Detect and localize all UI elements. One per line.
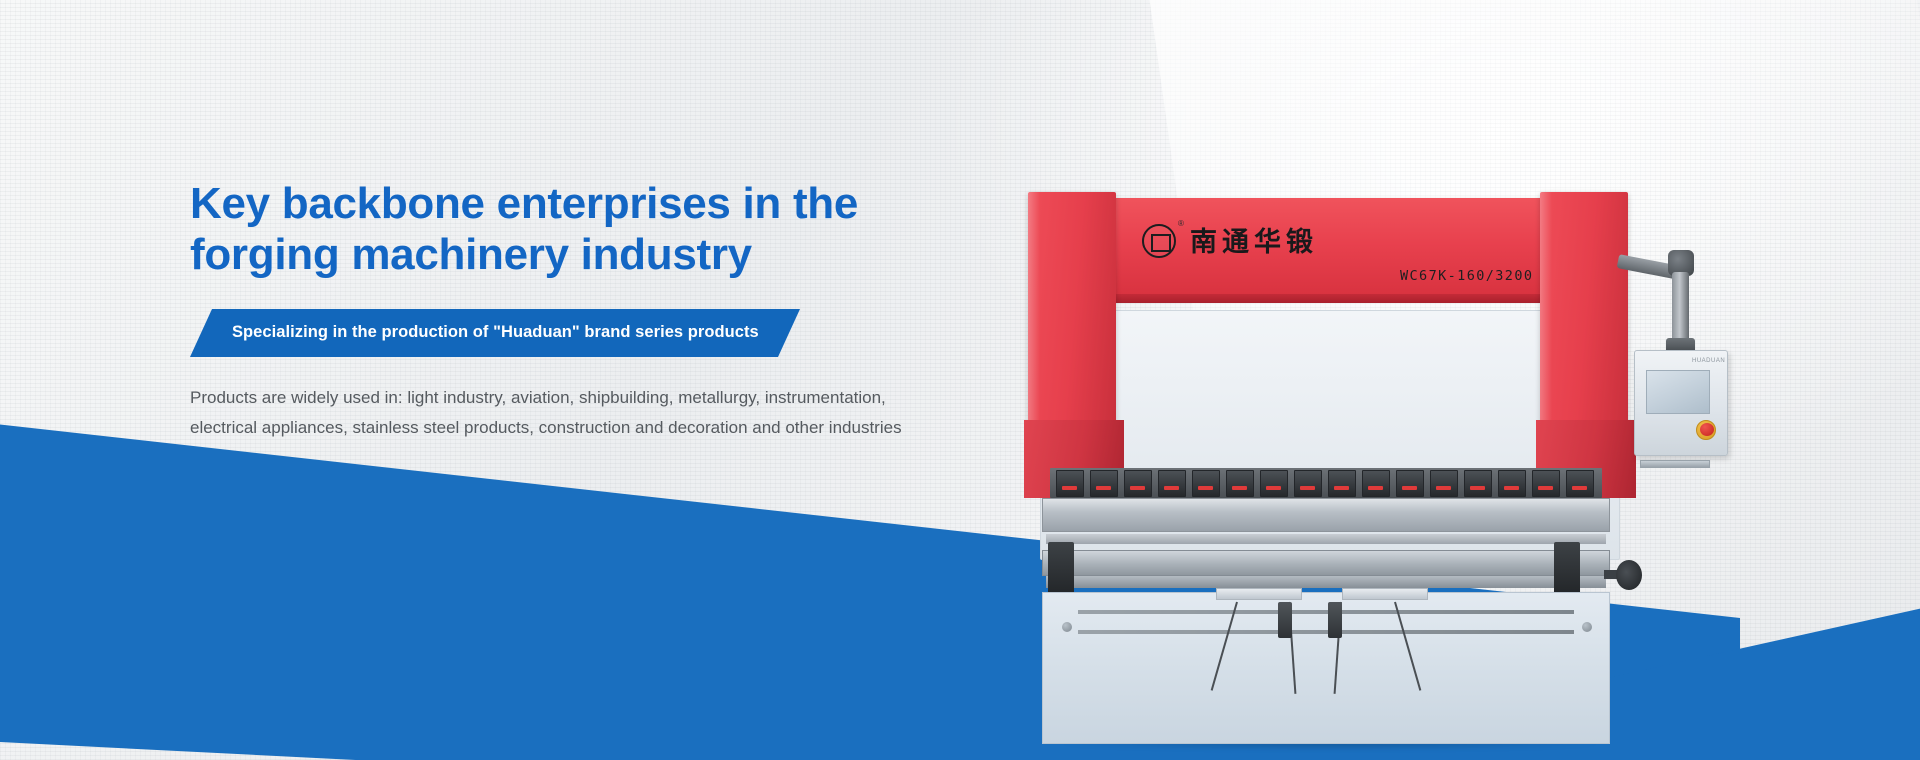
tool-clamp bbox=[1362, 470, 1390, 497]
pendant-brand-label: HUADUAN bbox=[1692, 358, 1725, 364]
description-paragraph: Products are widely used in: light indus… bbox=[190, 383, 930, 443]
tool-clamp-indicator bbox=[1300, 486, 1315, 490]
tool-clamp-indicator bbox=[1164, 486, 1179, 490]
base-fastener bbox=[1062, 622, 1072, 632]
tool-clamp-indicator bbox=[1096, 486, 1111, 490]
tool-clamp-indicator bbox=[1130, 486, 1145, 490]
vent-dots-right bbox=[1580, 256, 1585, 328]
tool-clamp bbox=[1056, 470, 1084, 497]
machine-punch-strip bbox=[1046, 534, 1606, 544]
tool-clamp bbox=[1532, 470, 1560, 497]
tool-clamp bbox=[1226, 470, 1254, 497]
tool-clamp-indicator bbox=[1062, 486, 1077, 490]
tool-clamp bbox=[1192, 470, 1220, 497]
vent-dots-left bbox=[1068, 256, 1073, 328]
sheet-support-plate bbox=[1342, 588, 1428, 600]
machine-bed-beam bbox=[1042, 550, 1610, 576]
tool-clamp-indicator bbox=[1198, 486, 1213, 490]
handwheel-icon bbox=[1616, 560, 1642, 590]
tagline-ribbon: Specializing in the production of "Huadu… bbox=[190, 309, 800, 357]
tool-clamp-indicator bbox=[1538, 486, 1553, 490]
tagline-text: Specializing in the production of "Huadu… bbox=[232, 323, 759, 342]
tool-clamp bbox=[1260, 470, 1288, 497]
tool-clamp-indicator bbox=[1232, 486, 1247, 490]
sheet-support-plate bbox=[1216, 588, 1302, 600]
machine-side-block-right bbox=[1554, 542, 1580, 594]
machine-base-panel bbox=[1042, 592, 1610, 744]
machine-upright-highlight-right bbox=[1540, 192, 1552, 422]
pendant-arm-vertical bbox=[1672, 272, 1689, 344]
tool-clamp-indicator bbox=[1572, 486, 1587, 490]
machine-ram-beam bbox=[1042, 498, 1610, 532]
tool-clamp bbox=[1396, 470, 1424, 497]
registered-trademark-icon: ® bbox=[1178, 219, 1184, 228]
tool-clamp bbox=[1124, 470, 1152, 497]
tool-clamp bbox=[1158, 470, 1186, 497]
machine-die-rail bbox=[1046, 576, 1606, 588]
tool-clamp-indicator bbox=[1402, 486, 1417, 490]
machine-crown-lip bbox=[1088, 294, 1598, 303]
backgauge-carriage bbox=[1328, 602, 1342, 638]
pendant-lower-slot bbox=[1640, 460, 1710, 468]
tool-clamp bbox=[1090, 470, 1118, 497]
backgauge-rail-upper bbox=[1078, 610, 1574, 614]
pendant-display-screen bbox=[1646, 370, 1710, 414]
huaduan-logo-icon bbox=[1142, 224, 1176, 258]
hero-banner: Key backbone enterprises in the forging … bbox=[0, 0, 1920, 760]
tool-clamp-indicator bbox=[1368, 486, 1383, 490]
tool-clamp-indicator bbox=[1436, 486, 1451, 490]
machine-model-number: WC67K-160/3200 bbox=[1400, 268, 1533, 284]
tool-clamp bbox=[1430, 470, 1458, 497]
press-brake-machine-image: ® 南通华锻 WC67K-160/3200 bbox=[1020, 198, 1700, 746]
tool-clamp bbox=[1498, 470, 1526, 497]
machine-side-block-left bbox=[1048, 542, 1074, 594]
tool-clamp bbox=[1566, 470, 1594, 497]
tool-clamp bbox=[1294, 470, 1322, 497]
emergency-stop-button-icon bbox=[1696, 420, 1716, 440]
tool-clamp bbox=[1464, 470, 1492, 497]
tool-clamp-indicator bbox=[1266, 486, 1281, 490]
machine-upright-highlight-left bbox=[1028, 192, 1040, 422]
backgauge-carriage bbox=[1278, 602, 1292, 638]
tool-clamp-indicator bbox=[1334, 486, 1349, 490]
backgauge-rail-lower bbox=[1078, 630, 1574, 634]
tool-clamp-indicator bbox=[1504, 486, 1519, 490]
base-fastener bbox=[1582, 622, 1592, 632]
tool-clamp bbox=[1328, 470, 1356, 497]
page-title: Key backbone enterprises in the forging … bbox=[190, 178, 1000, 281]
hero-copy: Key backbone enterprises in the forging … bbox=[190, 178, 1130, 442]
brand-name-chinese: 南通华锻 bbox=[1190, 220, 1318, 259]
tool-clamp-indicator bbox=[1470, 486, 1485, 490]
